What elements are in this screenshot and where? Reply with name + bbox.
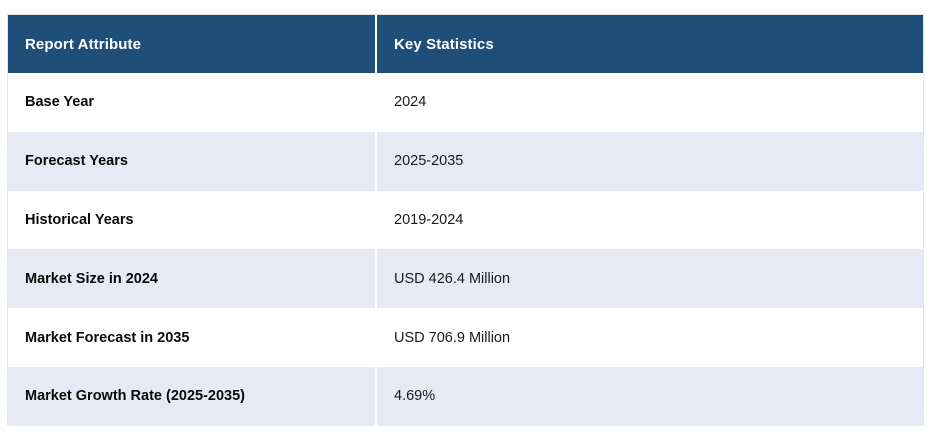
cell-attribute: Market Forecast in 2035 — [8, 308, 376, 367]
column-header-key-statistics: Key Statistics — [376, 15, 923, 73]
table-header-row: Report Attribute Key Statistics — [8, 15, 923, 73]
table-row: Market Growth Rate (2025-2035) 4.69% — [8, 367, 923, 426]
table-row: Forecast Years 2025-2035 — [8, 132, 923, 191]
cell-attribute: Base Year — [8, 73, 376, 132]
table-row: Market Size in 2024 USD 426.4 Million — [8, 249, 923, 308]
cell-attribute: Forecast Years — [8, 132, 376, 191]
cell-statistic: USD 426.4 Million — [376, 249, 923, 308]
report-statistics-table: Report Attribute Key Statistics Base Yea… — [8, 15, 923, 426]
table-row: Market Forecast in 2035 USD 706.9 Millio… — [8, 308, 923, 367]
cell-statistic: 2019-2024 — [376, 191, 923, 250]
cell-statistic: 2024 — [376, 73, 923, 132]
cell-attribute: Market Size in 2024 — [8, 249, 376, 308]
cell-attribute: Market Growth Rate (2025-2035) — [8, 367, 376, 426]
table-header: Report Attribute Key Statistics — [8, 15, 923, 73]
column-header-report-attribute: Report Attribute — [8, 15, 376, 73]
report-statistics-table-container: Report Attribute Key Statistics Base Yea… — [7, 14, 924, 425]
cell-statistic: 2025-2035 — [376, 132, 923, 191]
cell-statistic: 4.69% — [376, 367, 923, 426]
table-row: Base Year 2024 — [8, 73, 923, 132]
table-row: Historical Years 2019-2024 — [8, 191, 923, 250]
cell-statistic: USD 706.9 Million — [376, 308, 923, 367]
cell-attribute: Historical Years — [8, 191, 376, 250]
table-body: Base Year 2024 Forecast Years 2025-2035 … — [8, 73, 923, 426]
